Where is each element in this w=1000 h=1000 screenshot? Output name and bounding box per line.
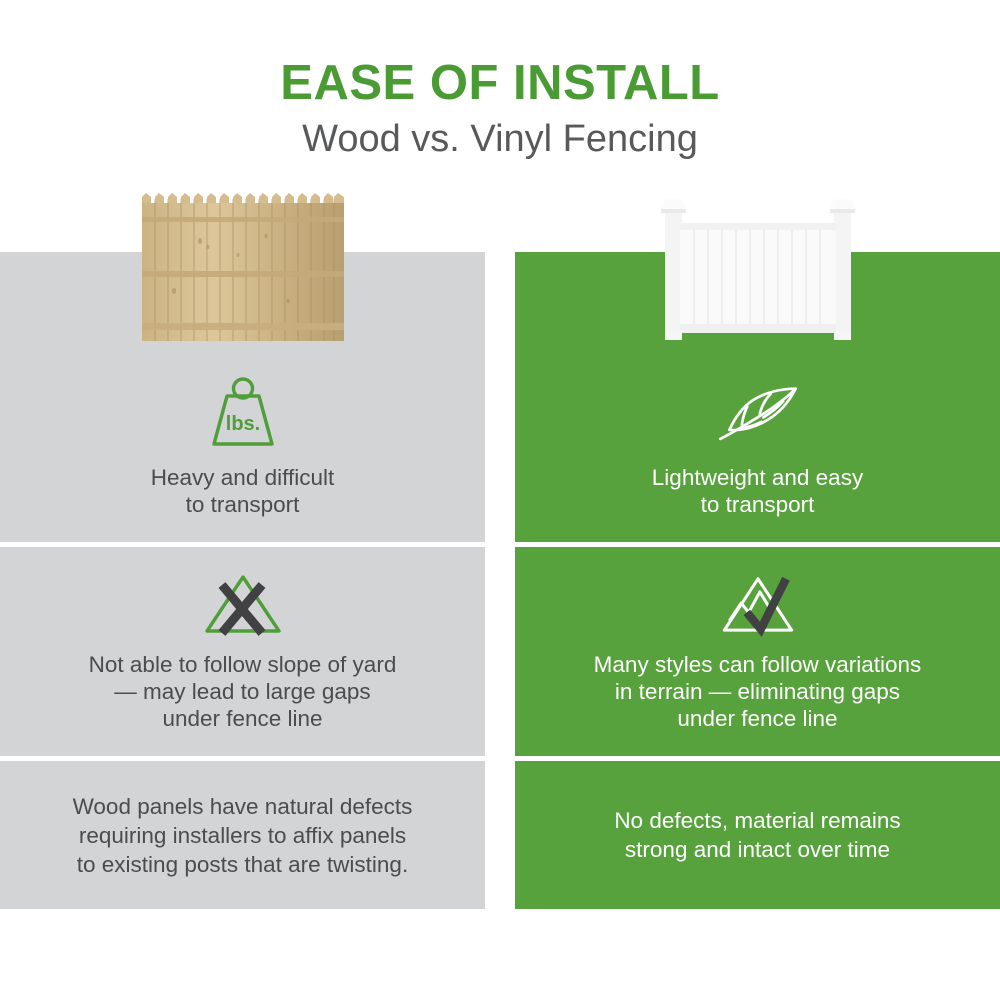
vinyl-row-weight-text: Lightweight and easy to transport xyxy=(630,464,885,518)
wood-fence-panel-icon xyxy=(138,191,348,343)
vinyl-fence-panel-icon xyxy=(653,191,863,343)
vinyl-row-weight: Lightweight and easy to transport xyxy=(515,345,1000,542)
mountain-check-icon xyxy=(715,571,801,637)
page-subtitle: Wood vs. Vinyl Fencing xyxy=(0,119,1000,161)
vinyl-row-defects-text: No defects, material remains strong and … xyxy=(592,806,922,864)
weight-lbs-icon: lbs. xyxy=(200,376,286,448)
wood-row-defects-text: Wood panels have natural defects requiri… xyxy=(51,792,435,879)
page-title: EASE OF INSTALL xyxy=(0,58,1000,109)
mountain-x-icon xyxy=(200,571,286,637)
wood-hero xyxy=(0,190,485,345)
infographic-header: EASE OF INSTALL Wood vs. Vinyl Fencing xyxy=(0,0,1000,161)
column-vinyl: Lightweight and easy to transport Many s… xyxy=(515,190,1000,950)
feather-icon xyxy=(715,376,801,448)
vinyl-hero xyxy=(515,190,1000,345)
vinyl-row-terrain-text: Many styles can follow variations in ter… xyxy=(572,651,944,732)
vinyl-row-defects: No defects, material remains strong and … xyxy=(515,761,1000,909)
weight-icon-label: lbs. xyxy=(225,413,259,435)
wood-row-slope: Not able to follow slope of yard — may l… xyxy=(0,547,485,756)
column-wood: lbs. Heavy and difficult to transport No… xyxy=(0,190,485,950)
wood-row-weight: lbs. Heavy and difficult to transport xyxy=(0,345,485,542)
comparison-grid: lbs. Heavy and difficult to transport No… xyxy=(0,190,1000,950)
wood-row-slope-text: Not able to follow slope of yard — may l… xyxy=(67,651,419,732)
vinyl-row-terrain: Many styles can follow variations in ter… xyxy=(515,547,1000,756)
wood-row-weight-text: Heavy and difficult to transport xyxy=(129,464,356,518)
wood-row-defects: Wood panels have natural defects requiri… xyxy=(0,761,485,909)
